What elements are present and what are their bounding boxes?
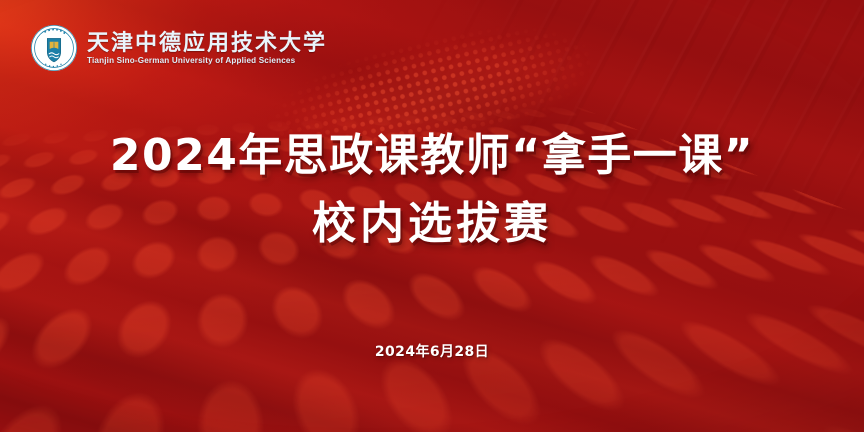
university-logo-lockup: 天津中德应用技术大学 Tianjin Sino-German Universit… (30, 24, 327, 72)
university-name-en: Tianjin Sino-German University of Applie… (87, 57, 327, 66)
slide-title-line-1: 2024年思政课教师“拿手一课” (0, 122, 864, 190)
slide-title-block: 2024年思政课教师“拿手一课” 校内选拔赛 (0, 122, 864, 258)
slide-date: 2024年6月28日 (0, 341, 864, 361)
title-slide: 天津中德应用技术大学 Tianjin Sino-German Universit… (0, 0, 864, 432)
university-logo-text: 天津中德应用技术大学 Tianjin Sino-German Universit… (87, 30, 327, 66)
slide-title-line-2: 校内选拔赛 (0, 190, 864, 258)
university-seal-icon (30, 24, 78, 72)
university-name-cn: 天津中德应用技术大学 (87, 32, 327, 55)
